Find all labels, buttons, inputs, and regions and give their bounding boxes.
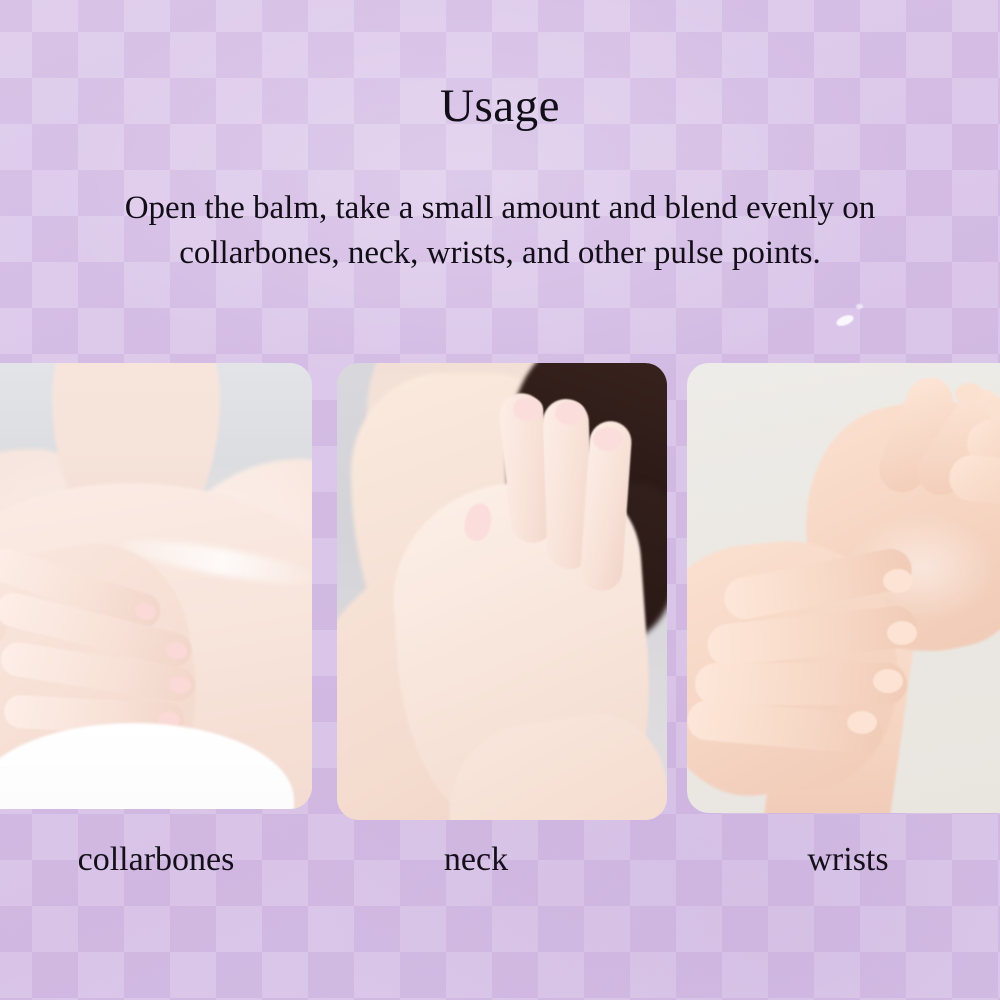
fingernail	[555, 401, 585, 425]
fingernail	[132, 600, 158, 623]
usage-infographic: Usage Open the balm, take a small amount…	[0, 0, 1000, 1000]
photo-neck	[337, 363, 667, 820]
fingernail	[873, 669, 903, 693]
fingernail	[955, 383, 983, 405]
fingernail	[883, 569, 913, 593]
usage-description-line-1: Open the balm, take a small amount and b…	[60, 186, 940, 231]
fingernail	[164, 640, 189, 662]
photo-panel-neck	[337, 363, 667, 820]
usage-description: Open the balm, take a small amount and b…	[60, 186, 940, 276]
fingernail	[847, 711, 877, 734]
fingernail	[887, 621, 917, 645]
page-title: Usage	[0, 83, 1000, 130]
fingernail	[593, 427, 623, 451]
photo-wrists	[687, 363, 1000, 813]
caption-wrists: wrists	[712, 838, 984, 882]
caption-neck: neck	[340, 838, 612, 882]
background-highlight-speck-small	[856, 304, 863, 309]
fingernail	[168, 675, 192, 695]
photo-panel-wrists	[687, 363, 1000, 813]
photo-collarbones	[0, 363, 312, 809]
photo-panel-collarbones	[0, 363, 312, 809]
caption-collarbones: collarbones	[20, 838, 292, 882]
fingernail	[513, 397, 543, 421]
usage-description-line-2: collarbones, neck, wrists, and other pul…	[60, 231, 940, 276]
